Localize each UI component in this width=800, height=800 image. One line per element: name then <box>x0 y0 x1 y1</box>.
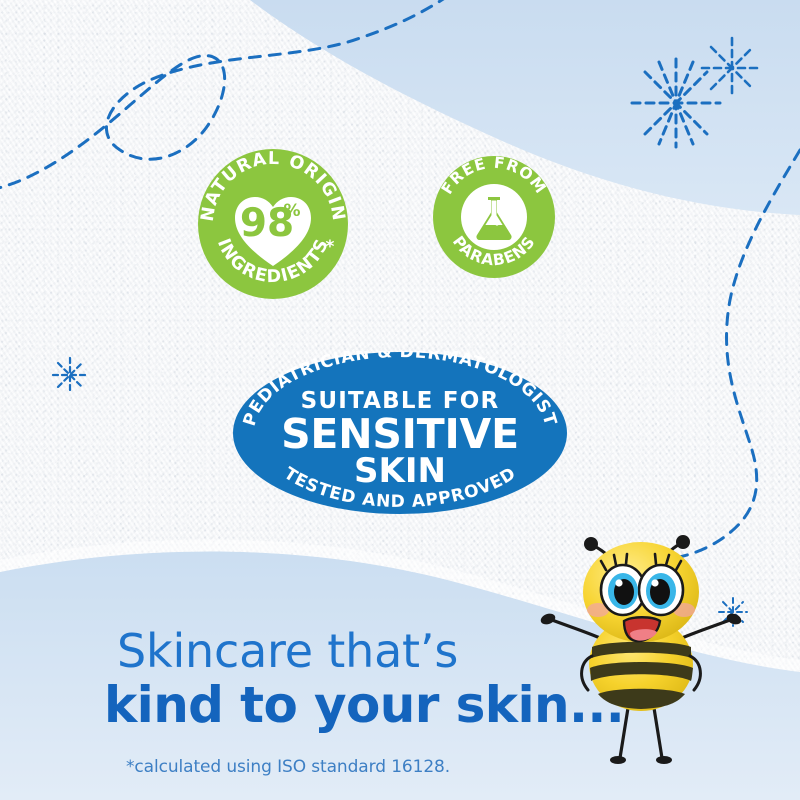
headline-line-1: Skincare that’s <box>117 628 458 674</box>
free-from-parabens-badge[interactable]: FREE FROM PARABENS <box>432 155 556 279</box>
badge-unit: % <box>283 201 300 221</box>
footnote-text: *calculated using ISO standard 16128. <box>126 757 450 777</box>
badge-asterisk: * <box>326 237 335 257</box>
headline-line-2: kind to your skin... <box>104 680 624 730</box>
sensitive-skin-badge[interactable]: PEDIATRICIAN & DERMATOLOGIST SUITABLE FO… <box>232 351 568 515</box>
promo-canvas: 98 % NATURAL ORIGIN INGREDIENTS * <box>0 0 800 800</box>
natural-origin-ingredients-badge[interactable]: 98 % NATURAL ORIGIN INGREDIENTS * <box>197 148 349 300</box>
badge-line3: SKIN <box>354 451 446 491</box>
badge-inner-disc <box>461 184 527 250</box>
